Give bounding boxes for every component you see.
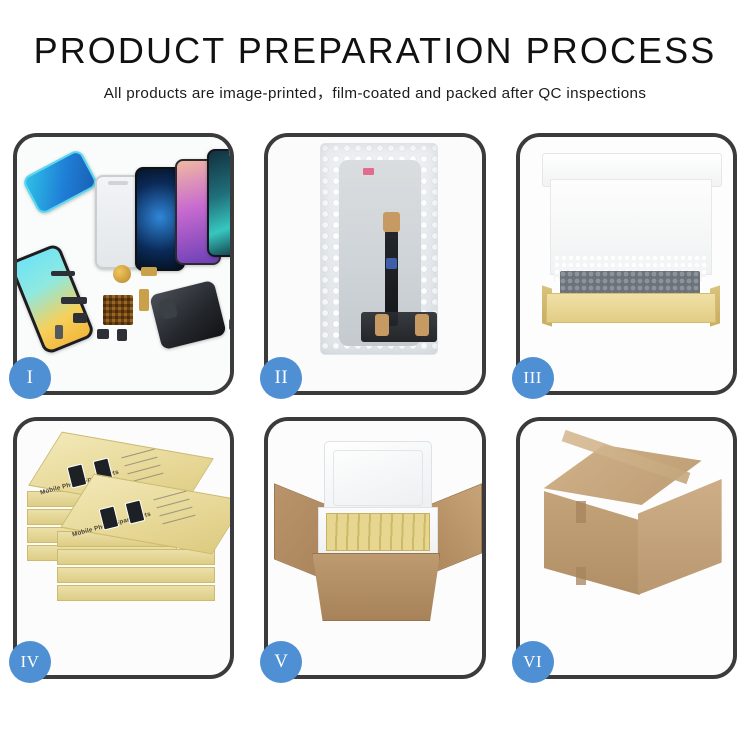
step-image-4: Mobile Phone Spare Parts Mobile Phone Sp…	[17, 421, 230, 675]
yellow-box-stack: Mobile Phone Spare Parts Mobile Phone Sp…	[25, 435, 225, 625]
connector-left	[375, 314, 389, 336]
step-badge-6: VI	[512, 641, 554, 683]
step-image-6	[520, 421, 733, 675]
process-step-grid: I II	[13, 133, 737, 679]
step-image-1	[17, 137, 230, 391]
camera-chip	[73, 313, 87, 323]
step-panel-2: II	[264, 133, 485, 395]
foam-lid	[324, 441, 432, 515]
step-panel-3: III	[516, 133, 737, 395]
carton-packing-scene	[268, 421, 481, 675]
carton-body	[312, 553, 440, 621]
connector-right	[415, 314, 429, 336]
step-panel-5: V	[264, 417, 485, 679]
gold-flex-strip	[139, 289, 149, 311]
gold-flex-chip	[141, 267, 157, 276]
ic-chip-grid	[103, 295, 133, 325]
stack-box-edge-7	[57, 567, 215, 583]
step-badge-3: III	[512, 357, 554, 399]
phone-back-housing	[149, 280, 227, 350]
button-chip	[97, 329, 109, 339]
step-image-5	[268, 421, 481, 675]
screw-a	[229, 319, 230, 330]
box-stack-scene: Mobile Phone Spare Parts Mobile Phone Sp…	[17, 421, 230, 675]
step-panel-4: Mobile Phone Spare Parts Mobile Phone Sp…	[13, 417, 234, 679]
step-badge-2: II	[260, 357, 302, 399]
speaker-module	[113, 265, 131, 283]
step-badge-1: I	[9, 357, 51, 399]
carton-seam-lower	[576, 567, 586, 585]
page-title: PRODUCT PREPARATION PROCESS	[0, 32, 750, 70]
page-header: PRODUCT PREPARATION PROCESS All products…	[0, 0, 750, 103]
product-preparation-page: PRODUCT PREPARATION PROCESS All products…	[0, 0, 750, 750]
step-panel-1: I	[13, 133, 234, 395]
bubble-wrap-scene	[268, 137, 481, 391]
sim-tray-chip	[55, 325, 63, 339]
sealed-carton-scene	[520, 421, 733, 675]
yellow-box-front	[546, 293, 716, 323]
phone-parts-scene	[17, 137, 230, 391]
step-badge-4: IV	[9, 641, 51, 683]
lcd-panel	[339, 160, 421, 346]
step-image-3	[520, 137, 733, 391]
page-subtitle: All products are image-printed，film-coat…	[0, 81, 750, 103]
carton-front-face	[544, 491, 640, 595]
inner-box-scene	[520, 137, 733, 391]
yellow-boxes-inside	[326, 513, 430, 551]
phone-teal-wallpaper	[207, 149, 230, 257]
blue-back-cover	[21, 148, 99, 216]
step-image-2	[268, 137, 481, 391]
vibrator-chip	[117, 329, 127, 341]
step-badge-5: V	[260, 641, 302, 683]
carton-seam-upper	[576, 501, 586, 523]
pink-label-tab	[363, 168, 374, 175]
stack-box-edge-6	[57, 549, 215, 565]
earpiece-chip	[51, 271, 75, 276]
connector-chip	[61, 297, 87, 304]
stack-box-edge-8	[57, 585, 215, 601]
bubble-wrap-bag	[320, 143, 438, 355]
step-panel-6: VI	[516, 417, 737, 679]
